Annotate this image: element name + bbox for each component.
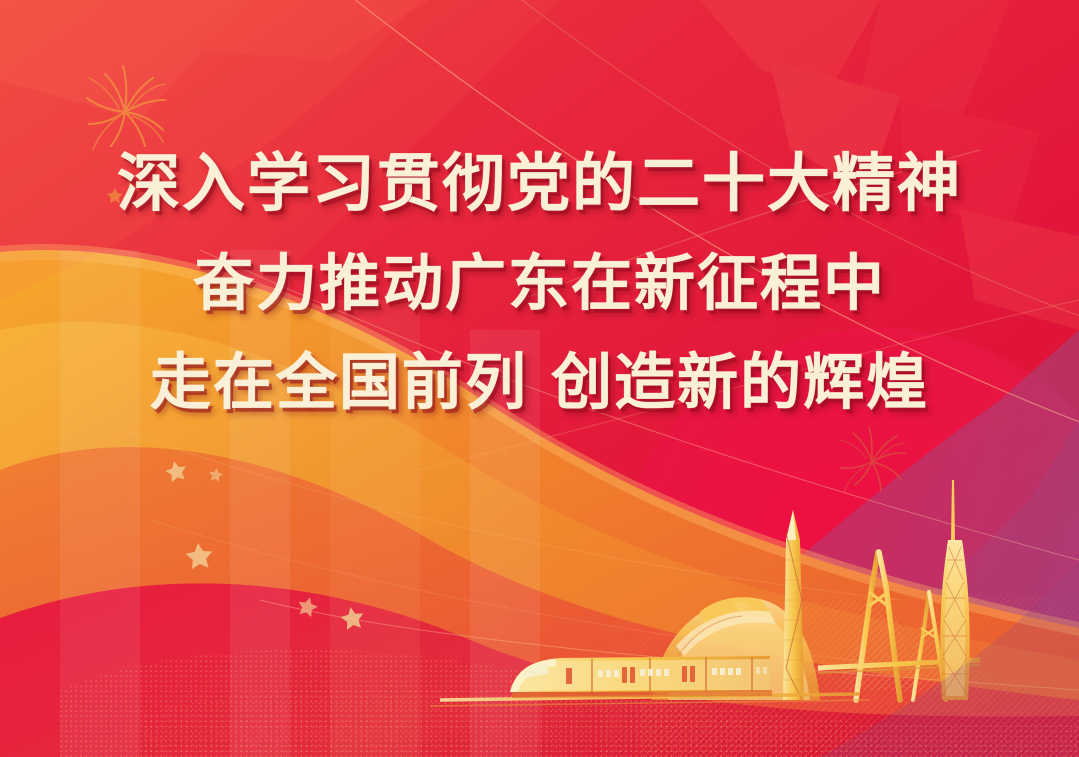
poster-canvas: 深入学习贯彻党的二十大精神 奋力推动广东在新征程中 走在全国前列 创造新的辉煌 … [0, 0, 1079, 757]
background-layer [0, 0, 1079, 757]
